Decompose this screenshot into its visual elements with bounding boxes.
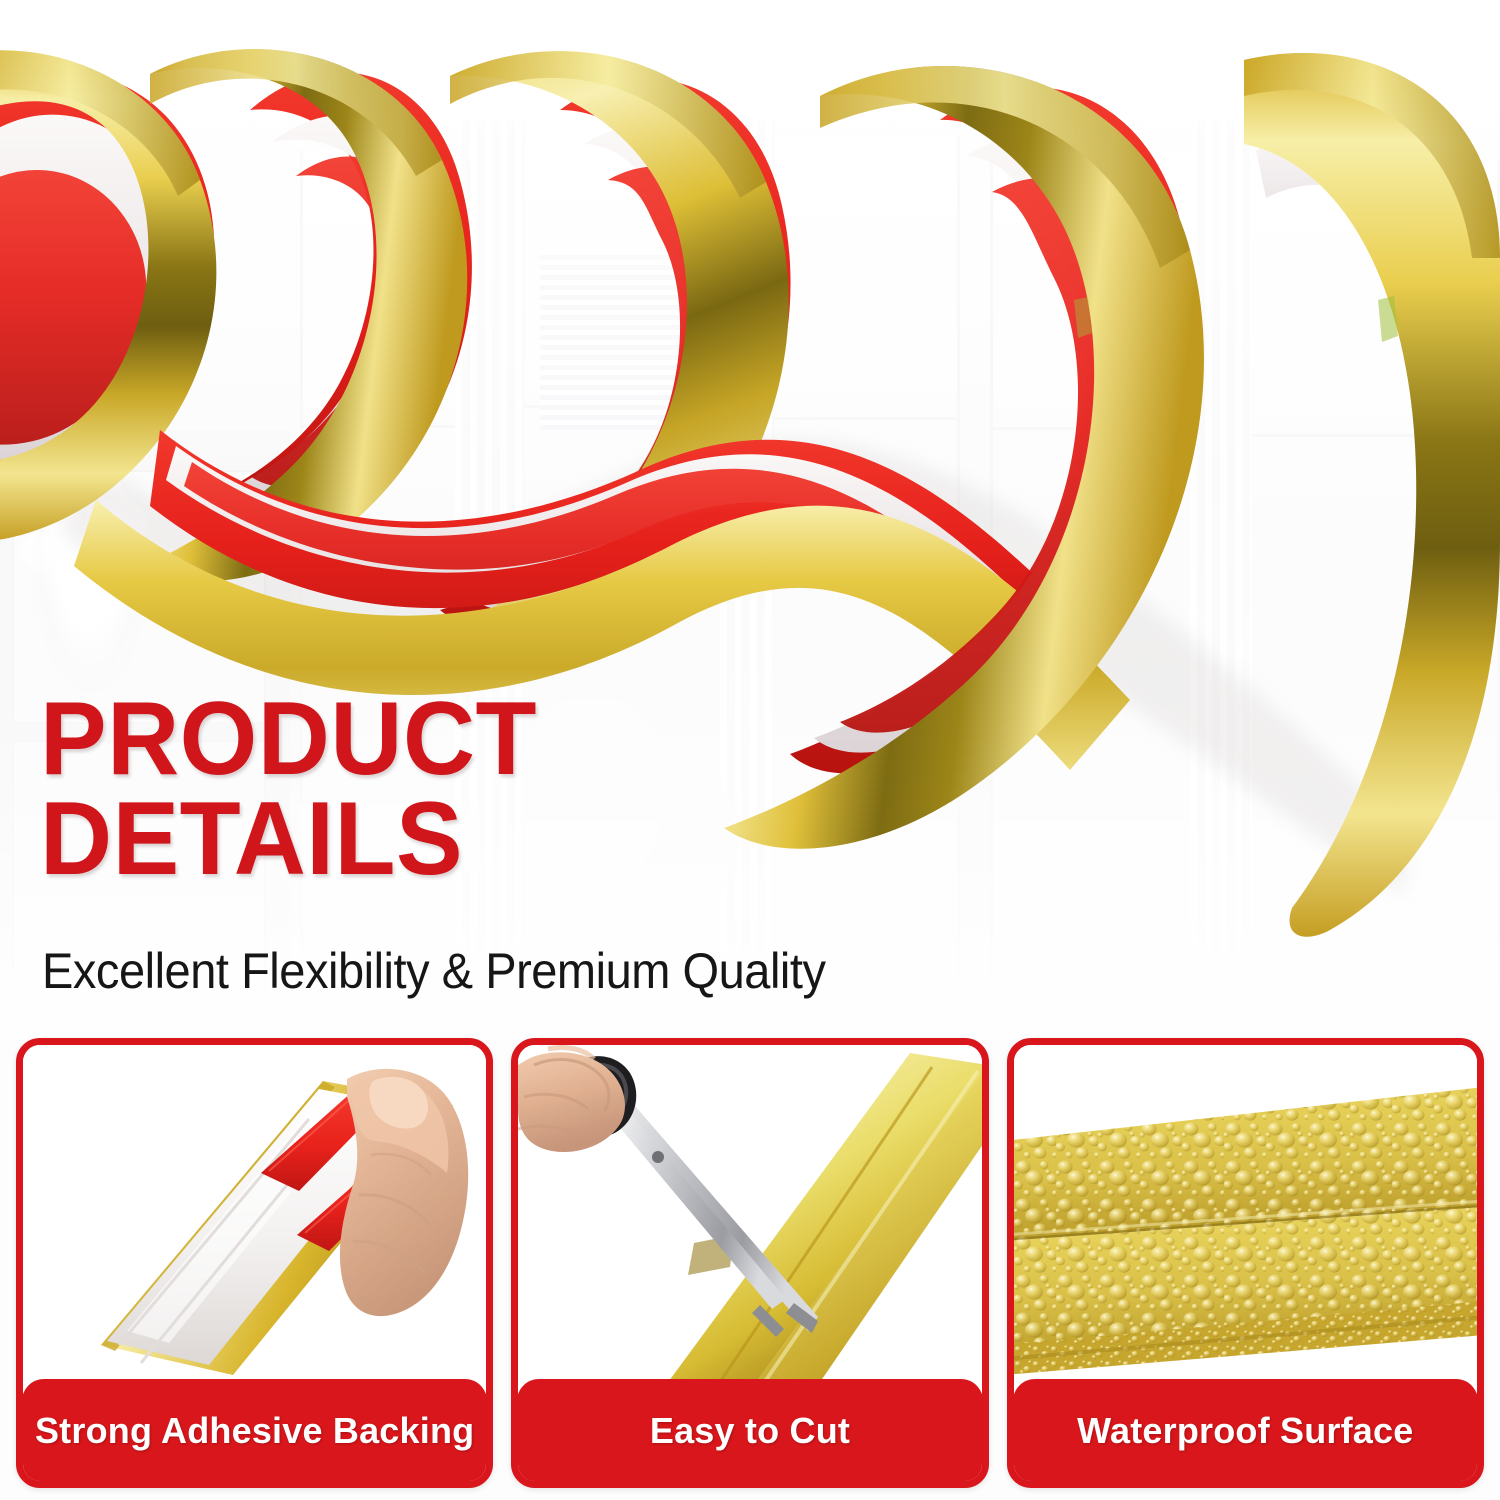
page-title: PRODUCT DETAILS [40, 690, 800, 890]
feature-panel-row: Strong Adhesive Backing [0, 1038, 1500, 1488]
feature-panel-strong-adhesive-backing[interactable]: Strong Adhesive Backing [16, 1038, 493, 1488]
headline-line-2: DETAILS [40, 790, 770, 890]
feature-panel-easy-to-cut[interactable]: Easy to Cut [511, 1038, 988, 1488]
easy-to-cut-photo [518, 1045, 981, 1379]
product-detail-infographic: PRODUCT DETAILS Excellent Flexibility & … [0, 0, 1500, 1500]
feature-caption-easy-to-cut: Easy to Cut [517, 1379, 982, 1482]
page-subtitle: Excellent Flexibility & Premium Quality [42, 942, 826, 1000]
adhesive-backing-photo [23, 1045, 486, 1379]
feature-caption-strong-adhesive-backing: Strong Adhesive Backing [22, 1379, 487, 1482]
waterproof-surface-photo [1014, 1045, 1477, 1379]
feature-caption-waterproof-surface: Waterproof Surface [1013, 1379, 1478, 1482]
headline-line-1: PRODUCT [40, 690, 770, 790]
feature-panel-waterproof-surface[interactable]: Waterproof Surface [1007, 1038, 1484, 1488]
